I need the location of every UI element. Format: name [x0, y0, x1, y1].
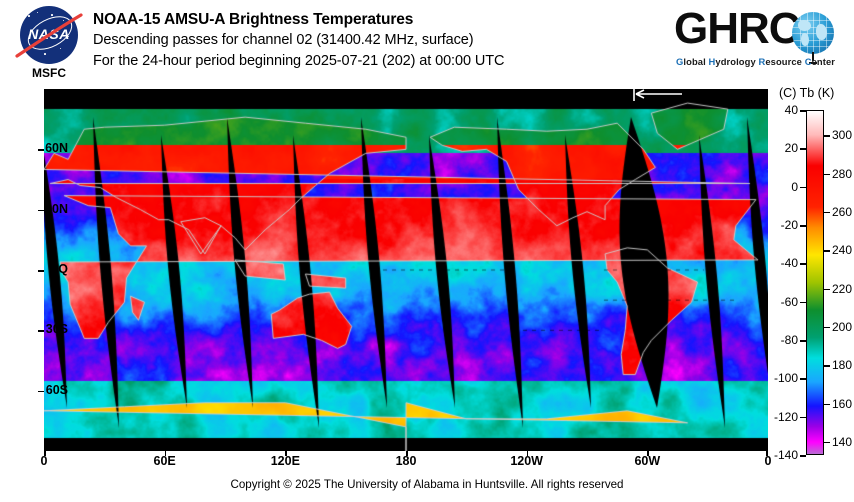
longitude-label: 60E: [154, 454, 176, 468]
colorbar-tick-celsius: [800, 455, 806, 457]
latitude-tick: [38, 149, 44, 151]
latitude-tick: [38, 330, 44, 332]
latitude-tick: [38, 270, 44, 272]
colorbar-label-celsius: -20: [768, 218, 798, 232]
colorbar-gradient: [807, 111, 823, 454]
colorbar-tick-celsius: [800, 187, 806, 189]
colorbar-label-celsius: 40: [768, 103, 798, 117]
colorbar-tick-kelvin: [824, 212, 830, 214]
latitude-label: EQ: [8, 262, 68, 276]
colorbar-label-kelvin: 180: [832, 358, 852, 372]
colorbar-label-celsius: -100: [768, 371, 798, 385]
colorbar-tick-kelvin: [824, 174, 830, 176]
subtitle-period: For the 24-hour period beginning 2025-07…: [93, 51, 504, 72]
ghrc-wordmark: GHRC: [674, 4, 800, 54]
latitude-label: 60N: [8, 141, 68, 155]
nasa-swoosh-icon: [15, 12, 83, 60]
colorbar-header: (C) Tb (K): [779, 86, 834, 100]
latitude-label: 30S: [8, 322, 68, 336]
latitude-label: 30N: [8, 202, 68, 216]
ghrc-tagline-part: ydrology: [715, 56, 758, 67]
page-header: NASA MSFC NOAA-15 AMSU-A Brightness Temp…: [0, 0, 854, 86]
brightness-temperature-map[interactable]: [44, 89, 768, 451]
colorbar-tick-kelvin: [824, 365, 830, 367]
longitude-label: 0: [41, 454, 48, 468]
colorbar-tick-kelvin: [824, 135, 830, 137]
colorbar-label-kelvin: 200: [832, 320, 852, 334]
longitude-tick: [406, 451, 408, 456]
ghrc-tagline: Global Hydrology Resource Center: [676, 56, 835, 67]
globe-icon: [792, 12, 834, 54]
colorbar-tick-celsius: [800, 340, 806, 342]
map-canvas[interactable]: [44, 89, 768, 451]
longitude-tick: [647, 451, 649, 456]
colorbar-tick-celsius: [800, 225, 806, 227]
colorbar-tick-celsius: [800, 110, 806, 112]
colorbar-tick-celsius: [800, 417, 806, 419]
ghrc-tagline-part: C: [805, 56, 812, 67]
colorbar-tick-celsius: [800, 263, 806, 265]
longitude-label: 120W: [510, 454, 543, 468]
colorbar[interactable]: [806, 110, 824, 455]
latitude-tick: [38, 210, 44, 212]
colorbar-label-kelvin: 220: [832, 282, 852, 296]
ghrc-tagline-part: lobal: [683, 56, 708, 67]
longitude-tick: [165, 451, 167, 456]
colorbar-label-kelvin: 300: [832, 128, 852, 142]
nasa-center-label: MSFC: [14, 66, 84, 80]
colorbar-label-celsius: 0: [768, 180, 798, 194]
longitude-label: 120E: [271, 454, 300, 468]
longitude-tick: [285, 451, 287, 456]
colorbar-label-celsius: -40: [768, 256, 798, 270]
colorbar-label-celsius: -80: [768, 333, 798, 347]
colorbar-label-kelvin: 260: [832, 205, 852, 219]
colorbar-tick-celsius: [800, 148, 806, 150]
colorbar-tick-celsius: [800, 302, 806, 304]
page-title: NOAA-15 AMSU-A Brightness Temperatures: [93, 10, 504, 30]
colorbar-label-celsius: 20: [768, 141, 798, 155]
colorbar-tick-kelvin: [824, 442, 830, 444]
colorbar-label-celsius: -60: [768, 295, 798, 309]
colorbar-tick-kelvin: [824, 404, 830, 406]
longitude-tick: [527, 451, 529, 456]
longitude-label: 180: [396, 454, 417, 468]
colorbar-tick-kelvin: [824, 327, 830, 329]
latitude-tick: [38, 391, 44, 393]
colorbar-label-kelvin: 280: [832, 167, 852, 181]
colorbar-label-kelvin: 240: [832, 243, 852, 257]
latitude-label: 60S: [8, 383, 68, 397]
colorbar-label-celsius: -140: [768, 448, 798, 462]
colorbar-label-kelvin: 140: [832, 435, 852, 449]
colorbar-tick-kelvin: [824, 289, 830, 291]
longitude-label: 60W: [634, 454, 660, 468]
colorbar-tick-celsius: [800, 378, 806, 380]
north-arrow-icon: [630, 89, 688, 103]
copyright-notice: Copyright © 2025 The University of Alaba…: [0, 478, 854, 491]
ghrc-tagline-part: enter: [812, 56, 835, 67]
ghrc-tagline-part: esource: [765, 56, 804, 67]
colorbar-label-celsius: -120: [768, 410, 798, 424]
ghrc-logo: GHRC Global Hydrology Resource Center: [674, 6, 838, 72]
title-block: NOAA-15 AMSU-A Brightness Temperatures D…: [93, 10, 504, 72]
subtitle-channel: Descending passes for channel 02 (31400.…: [93, 30, 504, 51]
colorbar-tick-kelvin: [824, 250, 830, 252]
longitude-tick: [44, 451, 46, 456]
colorbar-label-kelvin: 160: [832, 397, 852, 411]
nasa-logo: NASA MSFC: [14, 6, 84, 80]
